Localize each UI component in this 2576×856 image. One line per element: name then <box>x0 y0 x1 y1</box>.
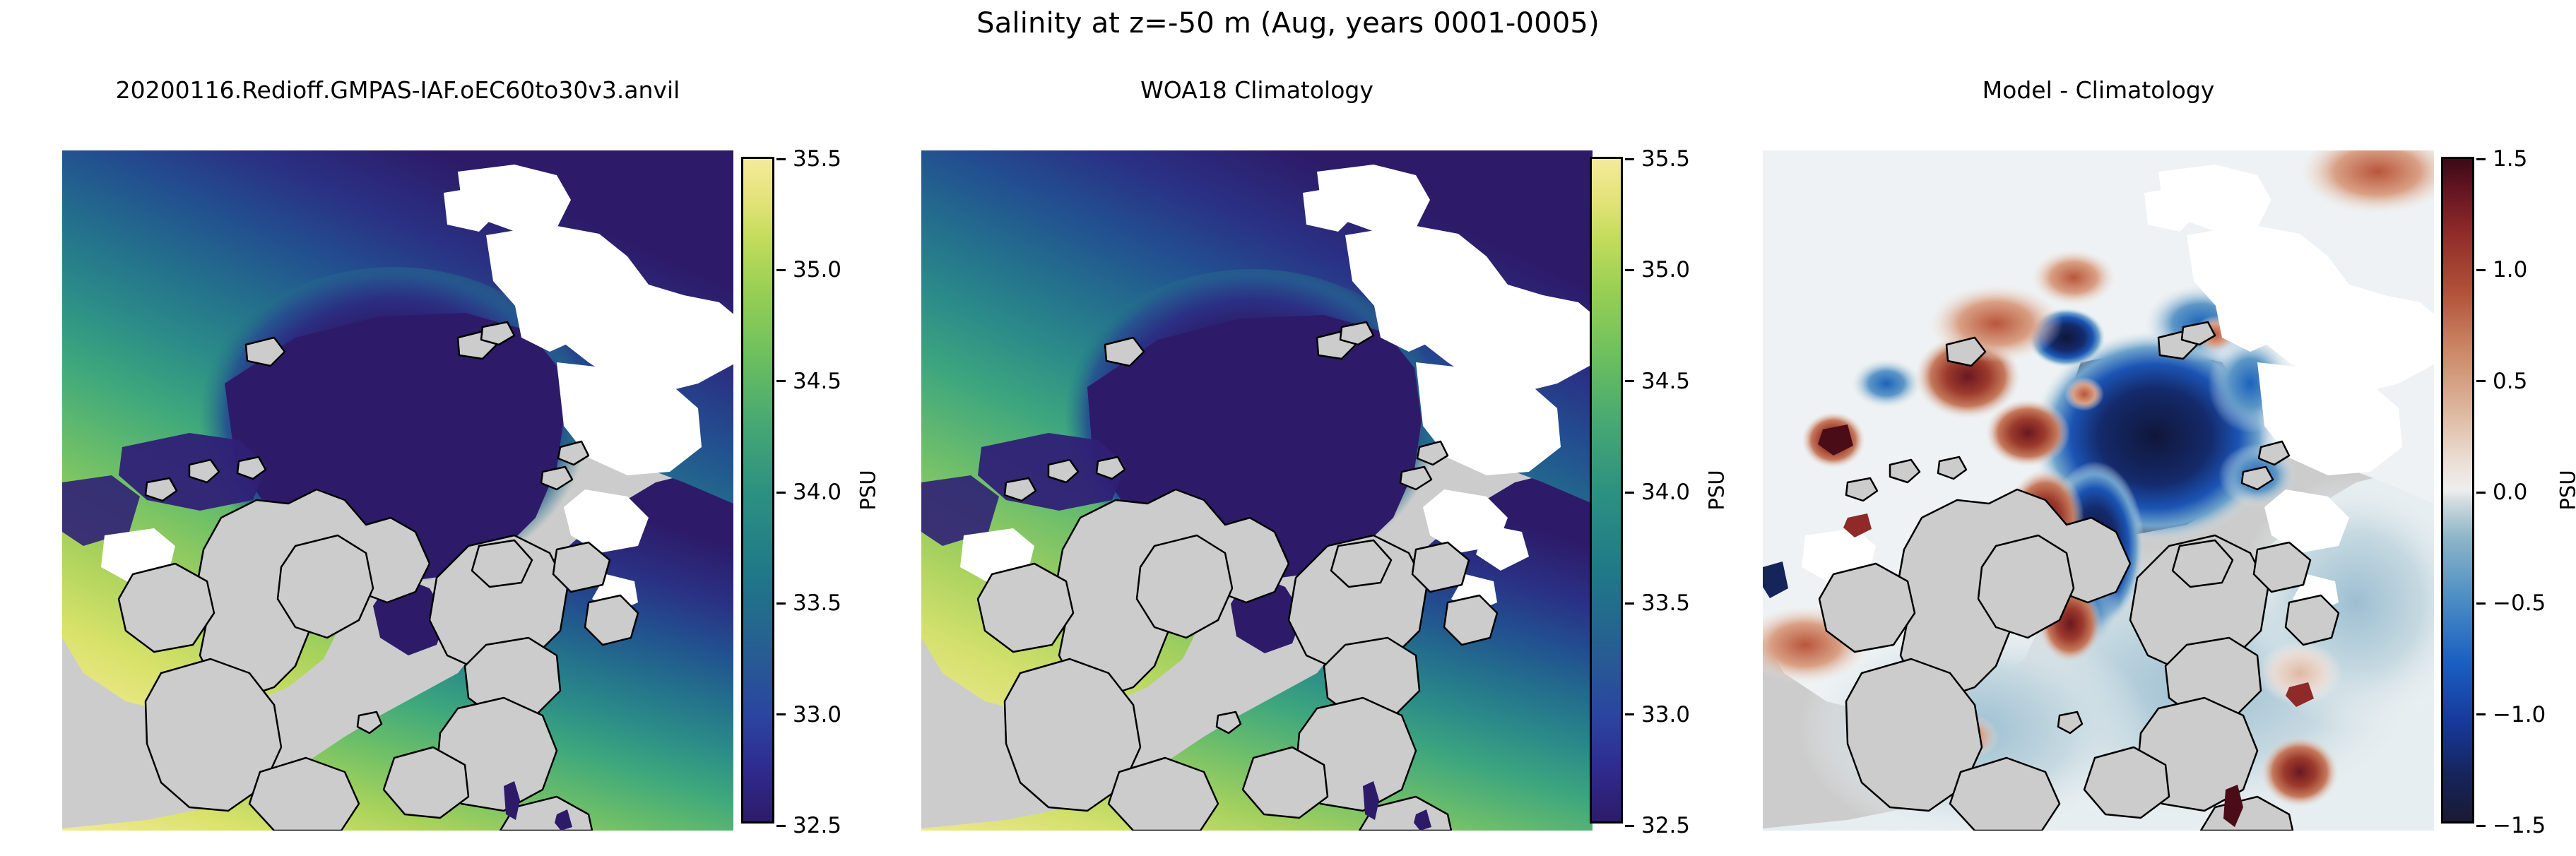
tick-mark <box>2476 713 2486 715</box>
colorbar-difference-tick: −1.0 <box>2476 702 2546 727</box>
panel-difference-title: Model - Climatology <box>1742 76 2455 104</box>
tick-mark <box>1625 492 1634 494</box>
tick-mark <box>776 269 786 271</box>
colorbar-model-tick: 33.5 <box>776 590 841 616</box>
colorbar-difference-tick: −0.5 <box>2476 590 2546 616</box>
panel-climatology-title: WOA18 Climatology <box>900 76 1614 104</box>
tick-label: 35.5 <box>793 146 841 172</box>
tick-label: 33.5 <box>793 590 841 616</box>
colorbar-model-tick: 34.0 <box>776 480 841 505</box>
tick-mark <box>2476 380 2486 382</box>
tick-label: 34.5 <box>793 369 841 394</box>
tick-mark <box>1625 713 1634 715</box>
tick-label: 32.5 <box>1641 813 1690 838</box>
tick-label: 35.0 <box>1641 257 1690 283</box>
colorbar-climatology-gradient <box>1592 159 1621 821</box>
tick-label: 33.0 <box>1641 702 1690 727</box>
tick-label: 34.0 <box>1641 480 1690 505</box>
colorbar-difference-tick: 1.0 <box>2476 257 2527 283</box>
colorbar-difference-axis-label: PSU <box>2556 470 2576 510</box>
colorbar-climatology-tick: 34.0 <box>1625 480 1690 505</box>
colorbar-difference-tick: −1.5 <box>2476 813 2546 838</box>
colorbar-climatology-tick: 35.0 <box>1625 257 1690 283</box>
tick-mark <box>1625 158 1634 160</box>
map-difference[interactable] <box>1763 150 2434 831</box>
tick-mark <box>2476 602 2486 605</box>
tick-label: 1.0 <box>2493 257 2527 283</box>
colorbar-difference-tick: 1.5 <box>2476 146 2527 172</box>
panel-model: 20200116.Redioff.GMPAS-IAF.oEC60to30v3.a… <box>62 150 733 831</box>
tick-label: −1.5 <box>2493 813 2546 838</box>
tick-label: 34.0 <box>793 480 841 505</box>
tick-mark <box>2476 269 2486 271</box>
colorbar-model-gradient <box>743 159 772 821</box>
tick-mark <box>776 602 786 605</box>
panel-model-title: 20200116.Redioff.GMPAS-IAF.oEC60to30v3.a… <box>41 76 755 104</box>
colorbar-difference-gradient <box>2443 159 2472 821</box>
tick-mark <box>776 492 786 494</box>
tick-mark <box>1625 380 1634 382</box>
tick-mark <box>2476 492 2486 494</box>
tick-mark <box>2476 825 2486 827</box>
tick-label: −1.0 <box>2493 702 2546 727</box>
colorbar-model[interactable]: 32.5 33.0 33.5 34.0 34.5 35.0 35.5 PSU <box>741 157 774 824</box>
tick-mark <box>776 825 786 827</box>
tick-label: 34.5 <box>1641 369 1690 394</box>
tick-mark <box>1625 602 1634 605</box>
tick-mark <box>1625 269 1634 271</box>
map-climatology[interactable] <box>921 150 1593 831</box>
colorbar-difference-tick: 0.5 <box>2476 369 2527 394</box>
tick-label: 0.5 <box>2493 369 2527 394</box>
panel-climatology: WOA18 Climatology <box>921 150 1593 831</box>
colorbar-model-tick: 35.5 <box>776 146 841 172</box>
map-model[interactable] <box>62 150 733 831</box>
colorbar-climatology-tick: 33.0 <box>1625 702 1690 727</box>
tick-mark <box>776 713 786 715</box>
colorbar-climatology-tick: 32.5 <box>1625 813 1690 838</box>
tick-mark <box>2476 158 2486 160</box>
colorbar-model-tick: 34.5 <box>776 369 841 394</box>
colorbar-climatology-axis-label: PSU <box>1705 470 1729 510</box>
tick-mark <box>776 380 786 382</box>
tick-mark <box>776 158 786 160</box>
colorbar-model-tick: 33.0 <box>776 702 841 727</box>
colorbar-climatology-tick: 34.5 <box>1625 369 1690 394</box>
colorbar-climatology-tick: 35.5 <box>1625 146 1690 172</box>
tick-label: 35.5 <box>1641 146 1690 172</box>
tick-mark <box>1625 825 1634 827</box>
colorbar-model-tick: 32.5 <box>776 813 841 838</box>
tick-label: 32.5 <box>793 813 841 838</box>
colorbar-climatology[interactable]: 32.5 33.0 33.5 34.0 34.5 35.0 35.5 PSU <box>1590 157 1623 824</box>
colorbar-difference-tick: 0.0 <box>2476 480 2527 505</box>
tick-label: 33.0 <box>793 702 841 727</box>
tick-label: 35.0 <box>793 257 841 283</box>
tick-label: −0.5 <box>2493 590 2546 616</box>
colorbar-climatology-tick: 33.5 <box>1625 590 1690 616</box>
tick-label: 33.5 <box>1641 590 1690 616</box>
colorbar-model-tick: 35.0 <box>776 257 841 283</box>
colorbar-difference[interactable]: −1.5 −1.0 −0.5 0.0 0.5 1.0 1.5 PSU <box>2441 157 2474 824</box>
figure-title: Salinity at z=-50 m (Aug, years 0001-000… <box>0 7 2576 40</box>
tick-label: 1.5 <box>2493 146 2527 172</box>
panel-difference: Model - Climatology <box>1763 150 2434 831</box>
tick-label: 0.0 <box>2493 480 2527 505</box>
colorbar-model-axis-label: PSU <box>856 470 880 510</box>
